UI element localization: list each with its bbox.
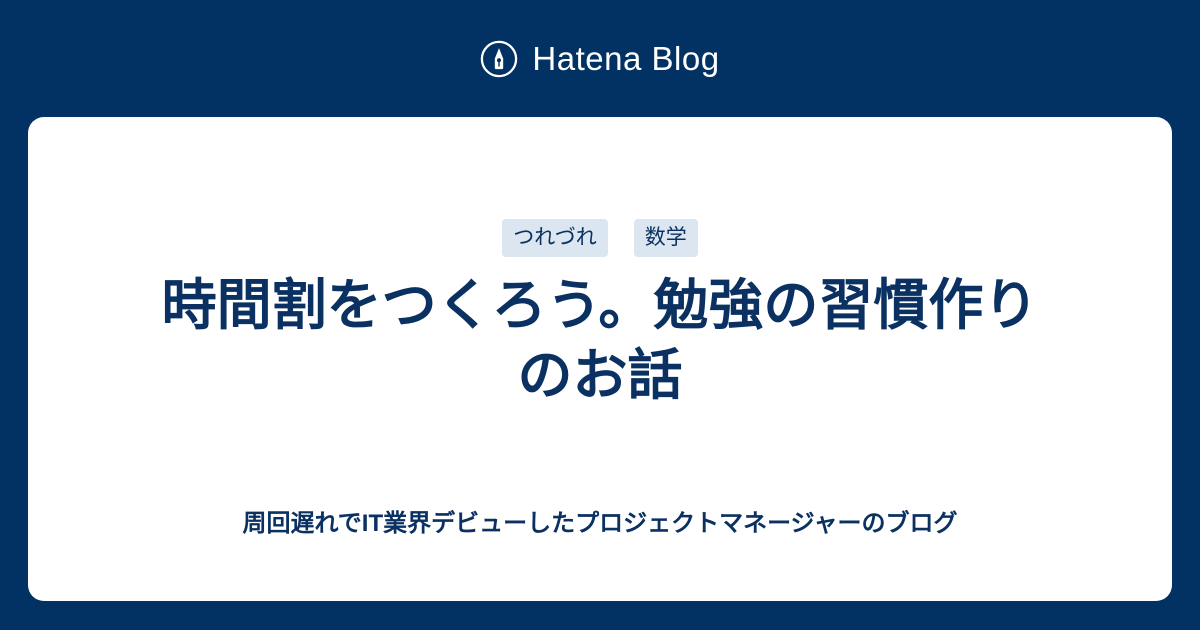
ogp-card-root: Hatena Blog つれづれ 数学 時間割をつくろう。勉強の習慣作りのお話 … [0, 0, 1200, 630]
brand-header: Hatena Blog [0, 0, 1200, 117]
tag-item[interactable]: 数学 [634, 219, 698, 257]
entry-card: つれづれ 数学 時間割をつくろう。勉強の習慣作りのお話 周回遅れでIT業界デビュ… [28, 117, 1172, 601]
brand-name: Hatena Blog [532, 42, 719, 75]
entry-title: 時間割をつくろう。勉強の習慣作りのお話 [28, 270, 1172, 411]
tag-list: つれづれ 数学 [502, 220, 698, 256]
tag-item[interactable]: つれづれ [502, 219, 608, 257]
blog-title: 周回遅れでIT業界デビューしたプロジェクトマネージャーのブログ [28, 510, 1172, 539]
hatena-pen-nib-circle-icon [480, 40, 518, 78]
